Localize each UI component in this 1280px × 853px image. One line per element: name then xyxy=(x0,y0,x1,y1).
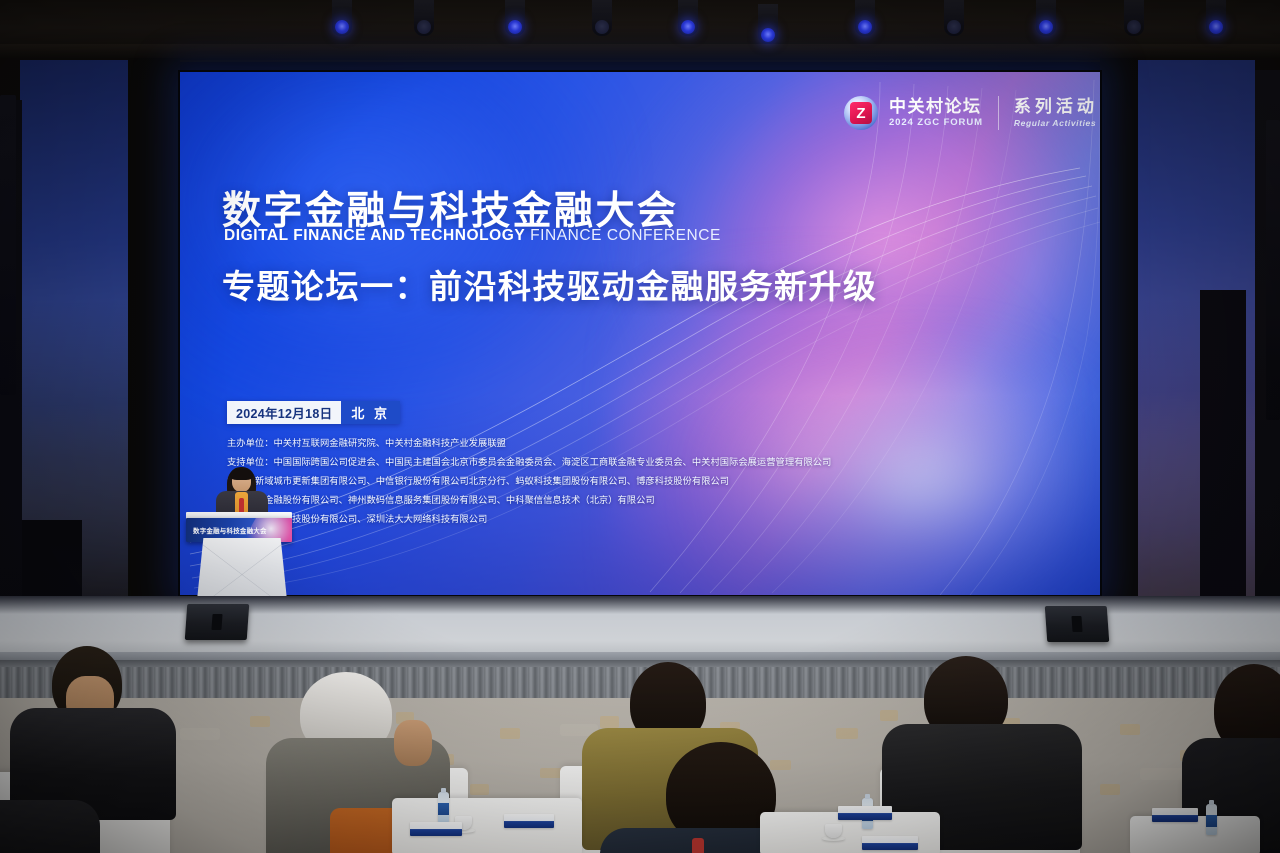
stage-light-icon xyxy=(855,0,875,36)
slide-subtitle-cn: 专题论坛一：前沿科技驱动金融服务新升级 xyxy=(222,260,878,308)
water-bottle xyxy=(1206,804,1217,835)
organizer-line: 马上消费金融股份有限公司、神州数码信息服务集团股份有限公司、中科聚信信息技术（北… xyxy=(227,491,1027,510)
logo-divider xyxy=(998,96,999,130)
logo-primary-text: 中关村论坛 2024 ZGC FORUM xyxy=(889,98,983,128)
ceiling-truss xyxy=(0,44,1280,60)
organizer-block: 主办单位：中关村互联网金融研究院、中关村金融科技产业发展联盟 支持单位：中国国际… xyxy=(227,434,1027,529)
person-hand xyxy=(394,720,432,766)
person-body xyxy=(0,800,100,853)
line-array-speaker-left xyxy=(0,95,16,395)
name-card xyxy=(410,822,462,836)
stage-light-icon xyxy=(414,0,434,36)
stage-monitor-right xyxy=(1045,606,1110,642)
event-date: 2024年12月18日 xyxy=(227,401,341,424)
line-array-speaker-right xyxy=(1266,120,1280,420)
stage-light-icon xyxy=(678,0,698,36)
water-bottle xyxy=(438,792,449,823)
speaker-fringe xyxy=(230,469,253,480)
logo-glyph: Z xyxy=(850,102,872,124)
stage-light-icon xyxy=(592,0,612,36)
event-city: 北 京 xyxy=(341,401,400,424)
audience-person xyxy=(22,646,162,806)
stage-light-icon xyxy=(332,0,352,36)
stage-light-icon xyxy=(1206,0,1226,36)
podium-banner-text: 数字金融与科技金融大会 xyxy=(193,525,267,535)
slide-title-en-light: FINANCE CONFERENCE xyxy=(525,227,721,244)
stage-light-icon xyxy=(1124,0,1144,36)
zgc-forum-logo: Z 中关村论坛 2024 ZGC FORUM 系列活动 Regular Acti… xyxy=(844,96,1098,130)
logo-name-en: 2024 ZGC FORUM xyxy=(889,118,983,128)
organizer-line: 主办单位：中关村互联网金融研究院、中关村金融科技产业发展联盟 xyxy=(227,434,1027,453)
forum-badge-icon: Z xyxy=(844,96,878,130)
name-card xyxy=(862,836,918,850)
name-card xyxy=(504,814,554,828)
organizer-line: 支持单位：中国国际跨国公司促进会、中国民主建国会北京市委员会金融委员会、海淀区工… xyxy=(227,453,1027,472)
stage-light-icon xyxy=(944,0,964,36)
slide-title-en: DIGITAL FINANCE AND TECHNOLOGY FINANCE C… xyxy=(224,227,721,245)
name-card xyxy=(838,806,892,820)
slide-title-en-bold: DIGITAL FINANCE AND TECHNOLOGY xyxy=(224,227,525,244)
logo-sub-en: Regular Activities xyxy=(1014,119,1098,128)
stage-monitor-left xyxy=(185,604,250,640)
led-screen: Z 中关村论坛 2024 ZGC FORUM 系列活动 Regular Acti… xyxy=(180,72,1100,595)
stage-light-icon xyxy=(1036,0,1056,36)
stage-light-icon xyxy=(758,4,778,44)
date-location-badge: 2024年12月18日 北 京 xyxy=(227,401,400,424)
logo-sub-cn: 系列活动 xyxy=(1014,98,1098,115)
stage-light-icon xyxy=(505,0,525,36)
name-card xyxy=(1152,808,1198,822)
audience-person-partial xyxy=(0,800,90,853)
logo-secondary-text: 系列活动 Regular Activities xyxy=(1014,98,1098,128)
conference-hall-photo: Z 中关村论坛 2024 ZGC FORUM 系列活动 Regular Acti… xyxy=(0,0,1280,853)
logo-name-cn: 中关村论坛 xyxy=(889,98,983,115)
organizer-line: 上海合合信息科技股份有限公司、深圳法大大网络科技有限公司 xyxy=(227,510,1027,529)
organizer-line: 北京海新域城市更新集团有限公司、中信银行股份有限公司北京分行、蚂蚁科技集团股份有… xyxy=(227,472,1027,491)
person-lanyard xyxy=(692,838,704,853)
